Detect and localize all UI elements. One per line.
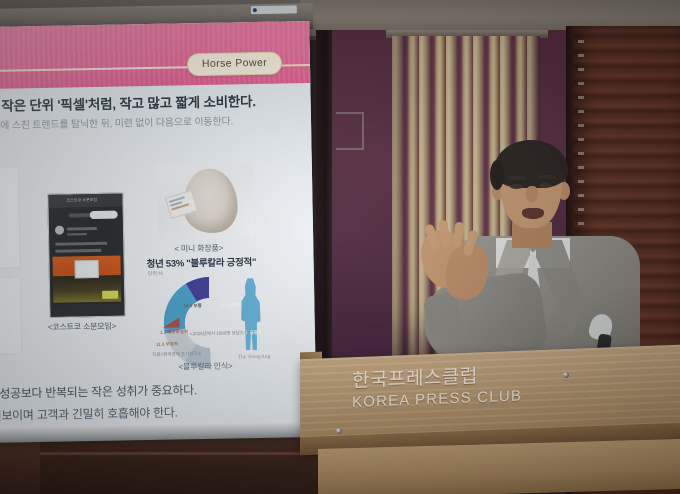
chart-label-neutral: 34.3 보통 — [183, 303, 201, 309]
phone-text-line — [55, 242, 107, 246]
podium-screw — [563, 372, 569, 378]
chart-label-very-negative: 1.1 매우부정적 — [160, 329, 188, 336]
chart-label-positive: 38.6 긍정적 — [219, 302, 242, 308]
chart-credit: The JoongAng — [238, 354, 271, 361]
mini-cosmetics-photo — [157, 162, 254, 240]
caption-phone: <코스트코 소분모임> — [48, 321, 116, 333]
chart-title: 청년 53% "블루칼라 긍정적" — [146, 254, 256, 270]
screen-brand-logo — [251, 5, 297, 14]
chart-unit-label: 단위:% — [148, 270, 163, 277]
phone-join-chip — [90, 211, 118, 220]
presentation-slide: Horse Power 는 가장 작은 단위 '픽셀'처럼, 작고 많고 짧게 … — [0, 21, 317, 439]
wall-bracket-decor — [336, 112, 364, 150]
podium-screw — [336, 428, 342, 434]
conference-photo-scene: Horse Power 는 가장 작은 단위 '픽셀'처럼, 작고 많고 짧게 … — [0, 0, 680, 494]
phone-photo-tag — [102, 291, 118, 299]
slide-subline: 않는다. 찰나에 스친 트렌드를 탐닉한 뒤, 미련 없이 다음으로 이동한다. — [0, 111, 290, 132]
slide-title-badge: Horse Power — [187, 52, 282, 77]
phone-photo-inset-card — [75, 260, 99, 278]
phone-avatar — [55, 226, 64, 235]
chart-source-note: 자료=한국경제 조사연구소 — [152, 351, 202, 358]
phone-post-photo — [52, 256, 121, 303]
chart-label-negative: 11.6 부정적 — [156, 341, 178, 347]
slide-ghost-box-1 — [0, 166, 21, 269]
phone-text-line — [67, 233, 87, 235]
phone-text-line — [67, 227, 97, 231]
phone-screenshot-image: 코스트코 소분모임 — [47, 192, 125, 317]
slide-footer-line-1: 번의 큰 성공보다 반복되는 작은 성취가 중요하다. — [0, 379, 301, 402]
wainscot-moulding — [0, 452, 330, 455]
caption-hand: < 미니 화장품> — [174, 243, 223, 255]
phone-action-bar — [50, 303, 124, 316]
caption-chart: <블루칼라 인식> — [178, 361, 232, 373]
podium-sign: 한국프레스클럽 KOREA PRESS CLUB — [352, 364, 562, 411]
slide-title-badge-label: Horse Power — [202, 57, 267, 70]
phone-text-line — [55, 249, 101, 253]
slide-ghost-box-2 — [0, 276, 22, 355]
chart-center-note: <2025년에서 1000명 응답조사> — [190, 330, 251, 337]
projection-screen: Horse Power 는 가장 작은 단위 '픽셀'처럼, 작고 많고 짧게 … — [0, 21, 317, 439]
phone-appbar: 코스트코 소분모임 — [48, 193, 122, 207]
podium-base — [318, 439, 680, 494]
phone-app-title: 코스트코 소분모임 — [66, 197, 97, 204]
blue-collar-chart: 청년 53% "블루칼라 긍정적" 단위:% 38.6 긍정적 34.3 보통 … — [144, 254, 272, 360]
